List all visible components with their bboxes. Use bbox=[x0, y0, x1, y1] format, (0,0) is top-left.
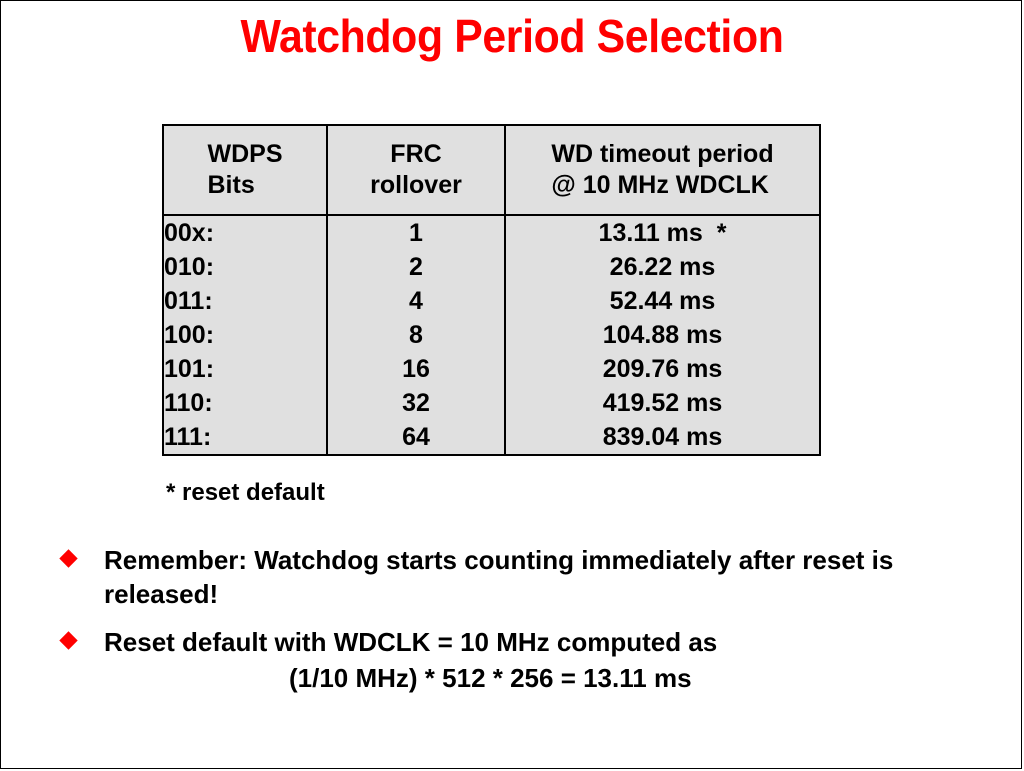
table-body: 00x: 010: 011: 100: 101: 110: 111: 1 2 4… bbox=[163, 215, 820, 455]
column-header-wdps-bits: WDPS Bits bbox=[163, 125, 327, 215]
column-header-wdps-bits-line1: WDPS bbox=[208, 140, 283, 168]
frc-rollover-cell: 1 2 4 8 16 32 64 bbox=[327, 215, 505, 455]
list-item: Remember: Watchdog starts counting immed… bbox=[59, 543, 999, 611]
bullet-text-reset-default: Reset default with WDCLK = 10 MHz comput… bbox=[104, 625, 999, 659]
column-header-frc-rollover-line1: FRC bbox=[390, 140, 441, 168]
table-header: WDPS Bits FRC rollover WD timeout period… bbox=[163, 125, 820, 215]
wd-timeout-period-cell: 13.11 ms * 26.22 ms 52.44 ms 104.88 ms 2… bbox=[505, 215, 820, 455]
watchdog-period-table: WDPS Bits FRC rollover WD timeout period… bbox=[162, 124, 821, 456]
column-header-wd-timeout-period-line2: @ 10 MHz WDCLK bbox=[551, 171, 768, 199]
bullet-list: Remember: Watchdog starts counting immed… bbox=[59, 543, 999, 709]
diamond-bullet-icon bbox=[59, 549, 77, 567]
column-header-wd-timeout-period-line1: WD timeout period bbox=[551, 140, 773, 168]
bullet-text-remember: Remember: Watchdog starts counting immed… bbox=[104, 543, 999, 611]
column-header-frc-rollover-line2: rollover bbox=[370, 171, 462, 199]
wd-timeout-period-values: 13.11 ms * 26.22 ms 52.44 ms 104.88 ms 2… bbox=[599, 219, 727, 451]
reset-default-formula: (1/10 MHz) * 512 * 256 = 13.11 ms bbox=[104, 661, 999, 695]
wdps-bits-values: 00x: 010: 011: 100: 101: 110: 111: bbox=[164, 219, 214, 451]
column-header-wd-timeout-period: WD timeout period @ 10 MHz WDCLK bbox=[505, 125, 820, 215]
frc-rollover-values: 1 2 4 8 16 32 64 bbox=[402, 219, 430, 451]
list-item: Reset default with WDCLK = 10 MHz comput… bbox=[59, 625, 999, 695]
column-header-wdps-bits-line2: Bits bbox=[208, 171, 255, 199]
diamond-bullet-icon bbox=[59, 631, 77, 649]
reset-default-footnote: * reset default bbox=[166, 478, 325, 508]
column-header-frc-rollover: FRC rollover bbox=[327, 125, 505, 215]
table-row: 00x: 010: 011: 100: 101: 110: 111: 1 2 4… bbox=[163, 215, 820, 455]
page-title: Watchdog Period Selection bbox=[37, 9, 987, 63]
slide-canvas: Watchdog Period Selection WDPS Bits FRC … bbox=[0, 0, 1022, 769]
wdps-bits-cell: 00x: 010: 011: 100: 101: 110: 111: bbox=[163, 215, 327, 455]
table-header-row: WDPS Bits FRC rollover WD timeout period… bbox=[163, 125, 820, 215]
